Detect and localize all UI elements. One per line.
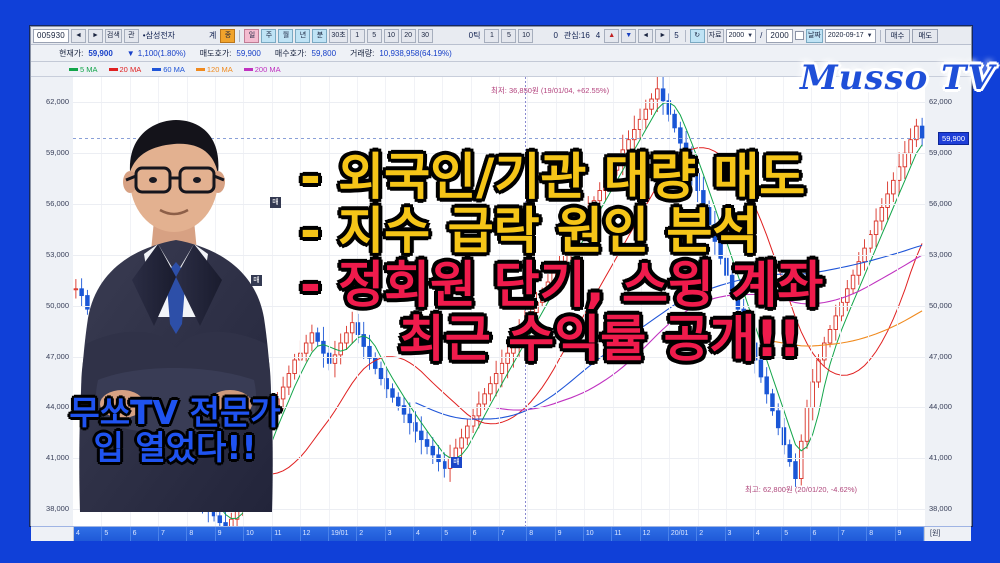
date-value: 2020-09-17 (828, 30, 864, 42)
tick-label: 0틱 (467, 30, 483, 41)
spinner-up-icon[interactable]: ▲ (604, 29, 619, 43)
x-axis: 45678910111219/012345678910111220/012345… (31, 526, 971, 541)
page-prev-icon[interactable]: ◄ (638, 29, 653, 43)
x-tick-22: 2 (697, 527, 725, 541)
nav-next-icon[interactable]: ► (88, 29, 103, 43)
high-annotation: 최고: 62,800원 (20/01/20, -4.62%) (745, 484, 857, 495)
period-button-week[interactable]: 주 (261, 29, 276, 43)
legend-label-ma200: 200 MA (255, 65, 281, 74)
stock-name-label: •삼성전자 (141, 30, 177, 41)
chevron-down-icon: ▼ (747, 30, 753, 42)
zero-label: 0 (551, 31, 559, 40)
current-price-label: 현재가: (59, 48, 83, 59)
x-tick-3: 7 (159, 527, 187, 541)
watchlist-number: 4 (594, 31, 602, 40)
volume-label: 거래량: (350, 48, 374, 59)
legend-label-ma120: 120 MA (207, 65, 233, 74)
legend-swatch-ma5 (69, 68, 78, 71)
toolbar-divider (239, 30, 240, 42)
x-tick-17: 9 (556, 527, 584, 541)
x-tick-4: 8 (187, 527, 215, 541)
refresh-icon[interactable]: ↻ (690, 29, 705, 43)
x-tick-7: 11 (272, 527, 300, 541)
x-tick-28: 8 (867, 527, 895, 541)
x-tick-0: 4 (74, 527, 102, 541)
x-tick-18: 10 (584, 527, 612, 541)
search-button[interactable]: 검색 (105, 29, 122, 43)
toolbar-divider-2 (685, 30, 686, 42)
x-tick-12: 4 (414, 527, 442, 541)
x-tick-11: 3 (386, 527, 414, 541)
gridline-h-0 (73, 102, 925, 103)
bid-price-value: 59,800 (312, 49, 336, 58)
legend-item-ma5: 5 MA (69, 65, 98, 74)
x-tick-14: 6 (471, 527, 499, 541)
x-tick-5: 9 (216, 527, 244, 541)
x-axis-ticks: 45678910111219/012345678910111220/012345… (74, 527, 924, 541)
price-change-value: 1,100(1.80%) (138, 49, 186, 58)
headline-block: - 외국인/기관 대량 매도 - 지수 급락 원인 분석 - 정회원 단기, 스… (300, 150, 940, 366)
period-button-month[interactable]: 월 (278, 29, 293, 43)
x-tick-20: 12 (641, 527, 669, 541)
x-tick-8: 12 (301, 527, 329, 541)
page-next-icon[interactable]: ► (655, 29, 670, 43)
minute-button-1[interactable]: 1 (350, 29, 365, 43)
x-tick-16: 8 (527, 527, 555, 541)
y-tick-left-0: 62,000 (46, 97, 69, 106)
minute-button-30[interactable]: 30 (418, 29, 433, 43)
data-count-value: 2000 (729, 30, 745, 42)
toolbar-divider-3 (880, 30, 881, 42)
minute-button-10[interactable]: 10 (384, 29, 399, 43)
favorite-button[interactable]: 관 (124, 29, 139, 43)
ask-price-label: 매도호가: (200, 48, 232, 59)
calendar-chevron-icon: ▼ (867, 30, 873, 42)
low-annotation: 최저: 36,850원 (19/01/04, +62.55%) (491, 85, 609, 96)
thumbnail-canvas: 005930 ◄ ► 검색 관 •삼성전자 계 종 일 주 월 년 분 30초 … (0, 0, 1000, 563)
chart-type-label: 계 (207, 30, 218, 41)
legend-item-ma120: 120 MA (196, 65, 233, 74)
toolbar: 005930 ◄ ► 검색 관 •삼성전자 계 종 일 주 월 년 분 30초 … (31, 27, 971, 45)
x-axis-left-pad (31, 527, 74, 541)
legend-label-ma5: 5 MA (80, 65, 98, 74)
legend-swatch-ma60 (152, 68, 161, 71)
x-tick-27: 7 (839, 527, 867, 541)
slash-divider: / (758, 31, 764, 40)
date-label: 날짜 (806, 29, 823, 43)
x-tick-10: 2 (357, 527, 385, 541)
legend-label-ma20: 20 MA (120, 65, 142, 74)
headline-line-1: - 외국인/기관 대량 매도 (300, 150, 940, 204)
spinner-down-icon[interactable]: ▼ (621, 29, 636, 43)
sell-button[interactable]: 매도 (912, 29, 938, 43)
current-price-value: 59,900 (88, 49, 112, 58)
date-picker[interactable]: 2020-09-17 ▼ (825, 29, 876, 43)
tick-button-1[interactable]: 1 (484, 29, 499, 43)
data-count-select[interactable]: 2000 ▼ (726, 29, 757, 43)
channel-logo-text: Musso TV (800, 58, 970, 98)
x-tick-29: 9 (896, 527, 924, 541)
page-number: 5 (672, 31, 680, 40)
minute-button-30s[interactable]: 30초 (329, 29, 347, 43)
legend-swatch-ma120 (196, 68, 205, 71)
down-arrow-icon: ▼ (127, 49, 135, 58)
date-checkbox[interactable] (795, 31, 804, 40)
legend-item-ma60: 60 MA (152, 65, 185, 74)
minute-button-5[interactable]: 5 (367, 29, 382, 43)
x-tick-21: 20/01 (669, 527, 697, 541)
legend-item-ma20: 20 MA (109, 65, 142, 74)
bid-price-label: 매수호가: (275, 48, 307, 59)
x-tick-13: 5 (442, 527, 470, 541)
x-tick-25: 5 (782, 527, 810, 541)
x-tick-9: 19/01 (329, 527, 357, 541)
volume-value: 10,938,958(64.19%) (379, 49, 452, 58)
nav-prev-icon[interactable]: ◄ (71, 29, 86, 43)
channel-logo: Musso TV (800, 58, 970, 114)
headline-line-4: 최근 수익률 공개!! (300, 312, 940, 366)
x-tick-6: 10 (244, 527, 272, 541)
period-button-minute[interactable]: 분 (312, 29, 327, 43)
x-tick-15: 7 (499, 527, 527, 541)
ask-price-value: 59,900 (236, 49, 260, 58)
x-axis-unit-cell: [원] (924, 527, 971, 541)
period-button-day[interactable]: 일 (244, 29, 259, 43)
legend-label-ma60: 60 MA (163, 65, 185, 74)
watchlist-label[interactable]: 관심:16 (562, 30, 592, 41)
buy-button[interactable]: 매수 (885, 29, 911, 43)
caption-line-2: 입 열었다!! (50, 431, 300, 466)
period-button-year[interactable]: 년 (295, 29, 310, 43)
stock-code-input[interactable]: 005930 (33, 29, 69, 43)
x-tick-24: 4 (754, 527, 782, 541)
y-tick-right-7: 41,000 (929, 453, 952, 462)
caption-line-1: 무쏘TV 전문가 (50, 396, 300, 431)
tick-button-5[interactable]: 5 (501, 29, 516, 43)
x-tick-23: 3 (726, 527, 754, 541)
y-unit-label: [원] (925, 527, 940, 541)
headline-line-3: - 정회원 단기, 스윙 계좌 (300, 258, 940, 312)
chart-type-button[interactable]: 종 (220, 29, 235, 43)
x-tick-2: 6 (131, 527, 159, 541)
legend-item-ma200: 200 MA (244, 65, 281, 74)
headline-line-2: - 지수 급락 원인 분석 (300, 204, 940, 258)
last-price-badge: 59,900 (938, 132, 969, 145)
bottom-left-caption: 무쏘TV 전문가 입 열었다!! (50, 396, 300, 465)
data-count-label: 자료 (707, 29, 724, 43)
data-total-value: 2000 (766, 29, 793, 43)
trade-marker-3[interactable]: 매 (451, 457, 462, 468)
y-tick-right-8: 38,000 (929, 504, 952, 513)
tick-button-10[interactable]: 10 (518, 29, 533, 43)
y-tick-right-6: 44,000 (929, 402, 952, 411)
legend-swatch-ma20 (109, 68, 118, 71)
x-tick-19: 11 (612, 527, 640, 541)
x-tick-1: 5 (102, 527, 130, 541)
x-tick-26: 6 (811, 527, 839, 541)
legend-swatch-ma200 (244, 68, 253, 71)
minute-button-20[interactable]: 20 (401, 29, 416, 43)
